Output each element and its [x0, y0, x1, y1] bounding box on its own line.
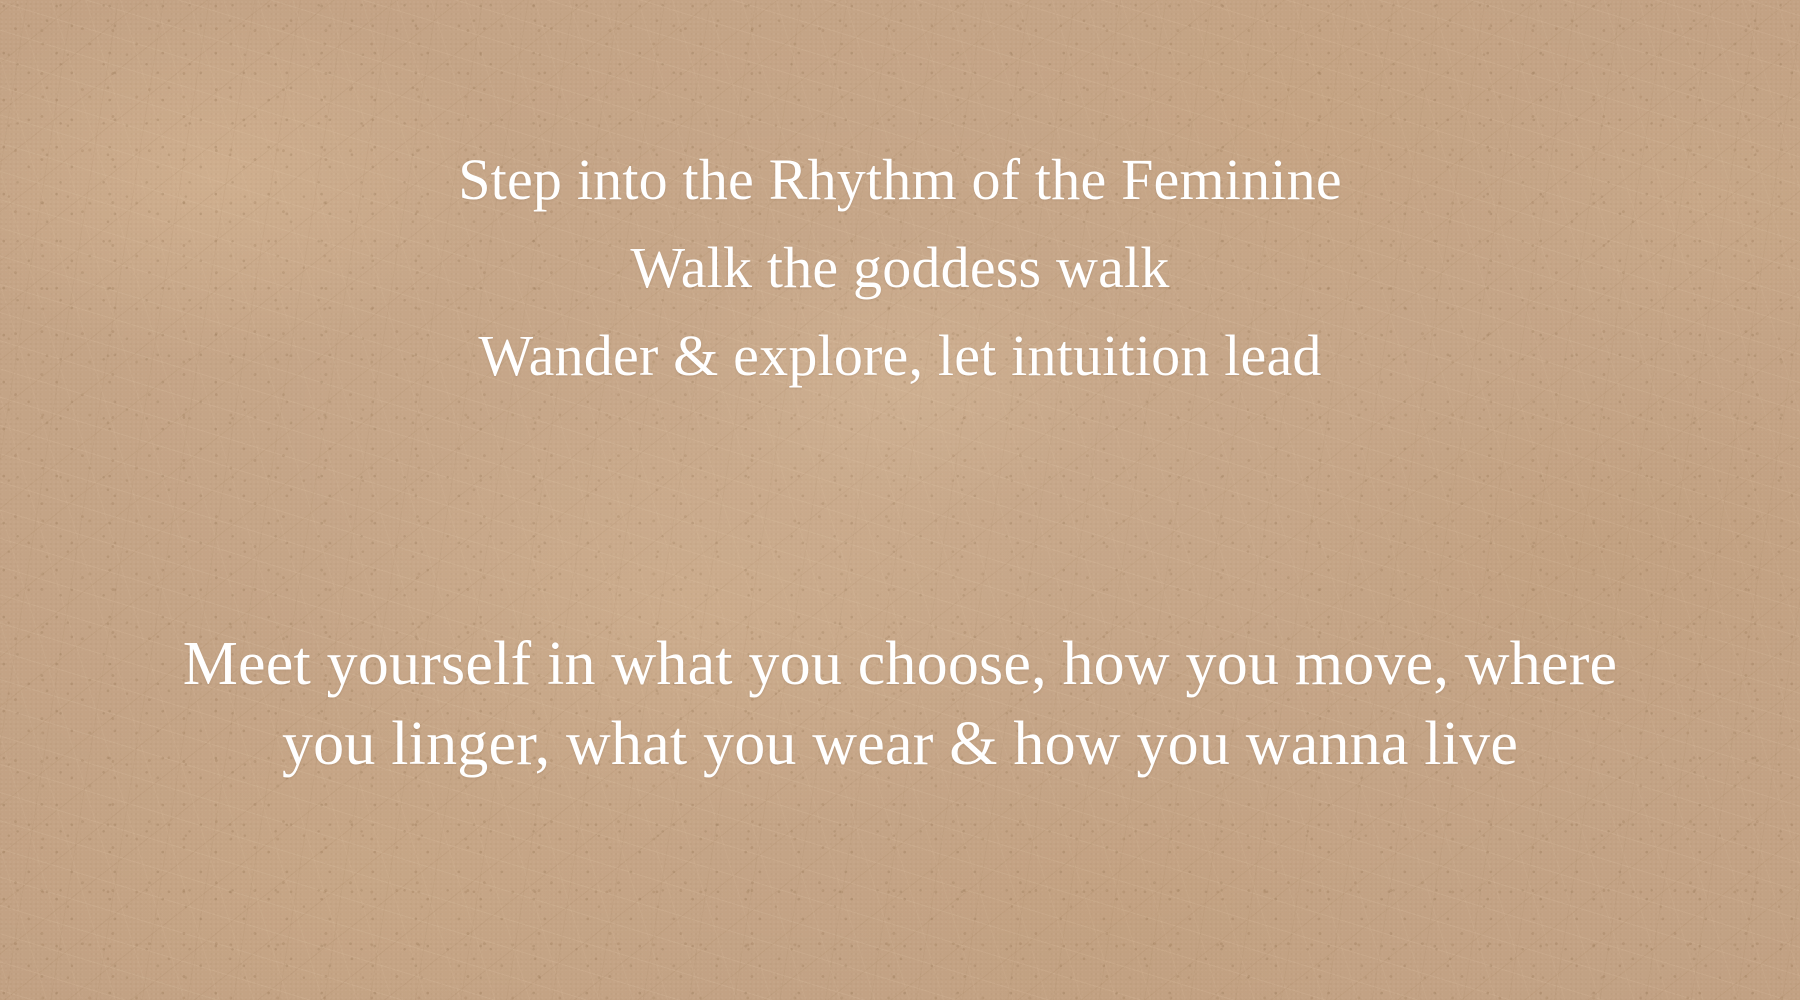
upper-line-3: Wander & explore, let intuition lead: [0, 312, 1800, 400]
lower-quote-block: Meet yourself in what you choose, how yo…: [0, 624, 1800, 784]
upper-line-1: Step into the Rhythm of the Feminine: [0, 136, 1800, 224]
quote-content: Step into the Rhythm of the Feminine Wal…: [0, 0, 1800, 1000]
upper-line-2: Walk the goddess walk: [0, 224, 1800, 312]
lower-line-2: you linger, what you wear & how you wann…: [0, 704, 1800, 784]
lower-line-1: Meet yourself in what you choose, how yo…: [0, 624, 1800, 704]
upper-quote-block: Step into the Rhythm of the Feminine Wal…: [0, 136, 1800, 400]
quote-card: Step into the Rhythm of the Feminine Wal…: [0, 0, 1800, 1000]
